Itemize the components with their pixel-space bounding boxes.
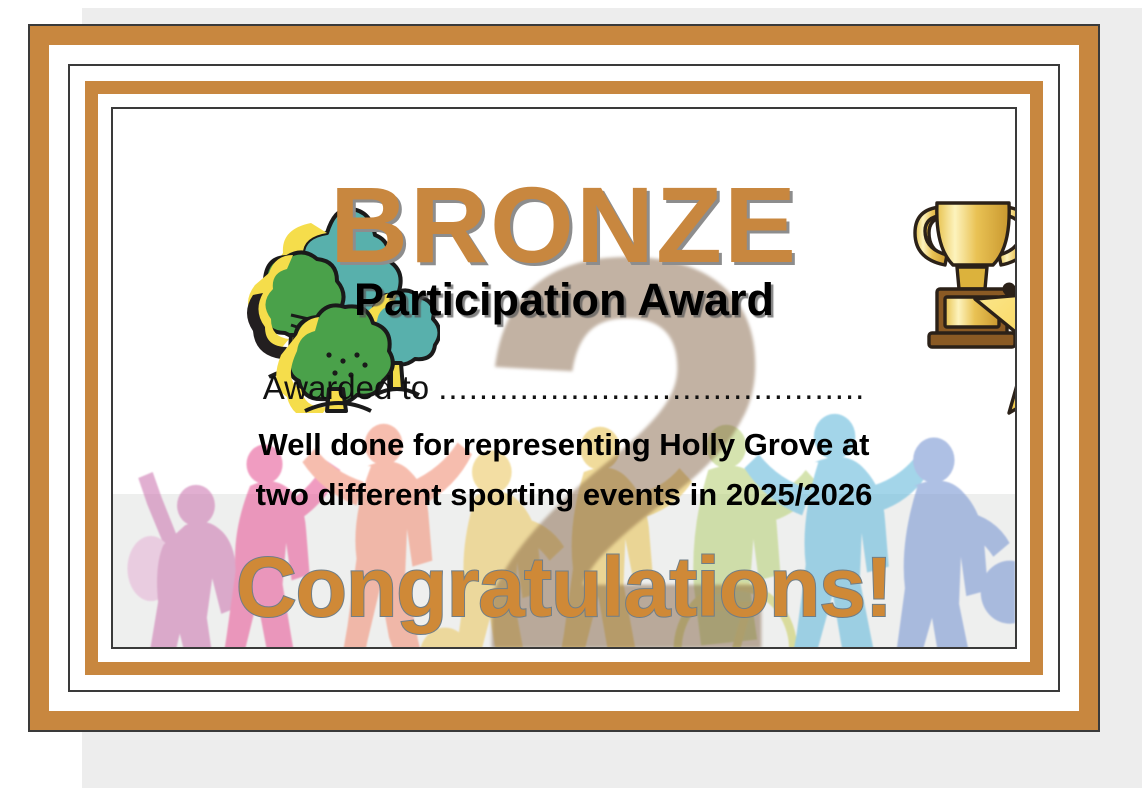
certificate-outer-border: 2 [30,26,1098,730]
certificate-panel: 2 [111,107,1017,649]
certificate-inner-border: 2 [85,81,1043,675]
certificate-border-gap: 2 [68,64,1060,692]
awarded-to-label: Awarded to [263,369,429,406]
certificate-title-sub: Participation Award [113,277,1015,322]
body-text-line-1: Well done for representing Holly Grove a… [113,427,1015,463]
congratulations-text: Congratulations! [113,545,1015,629]
awarded-to-row: Awarded to .............................… [113,369,1015,407]
certificate-card: 2 [28,24,1100,732]
body-text-line-2: two different sporting events in 2025/20… [113,477,1015,513]
certificate-title-main: BRONZE [113,171,1015,279]
recipient-name-field[interactable]: ........................................… [438,369,865,406]
